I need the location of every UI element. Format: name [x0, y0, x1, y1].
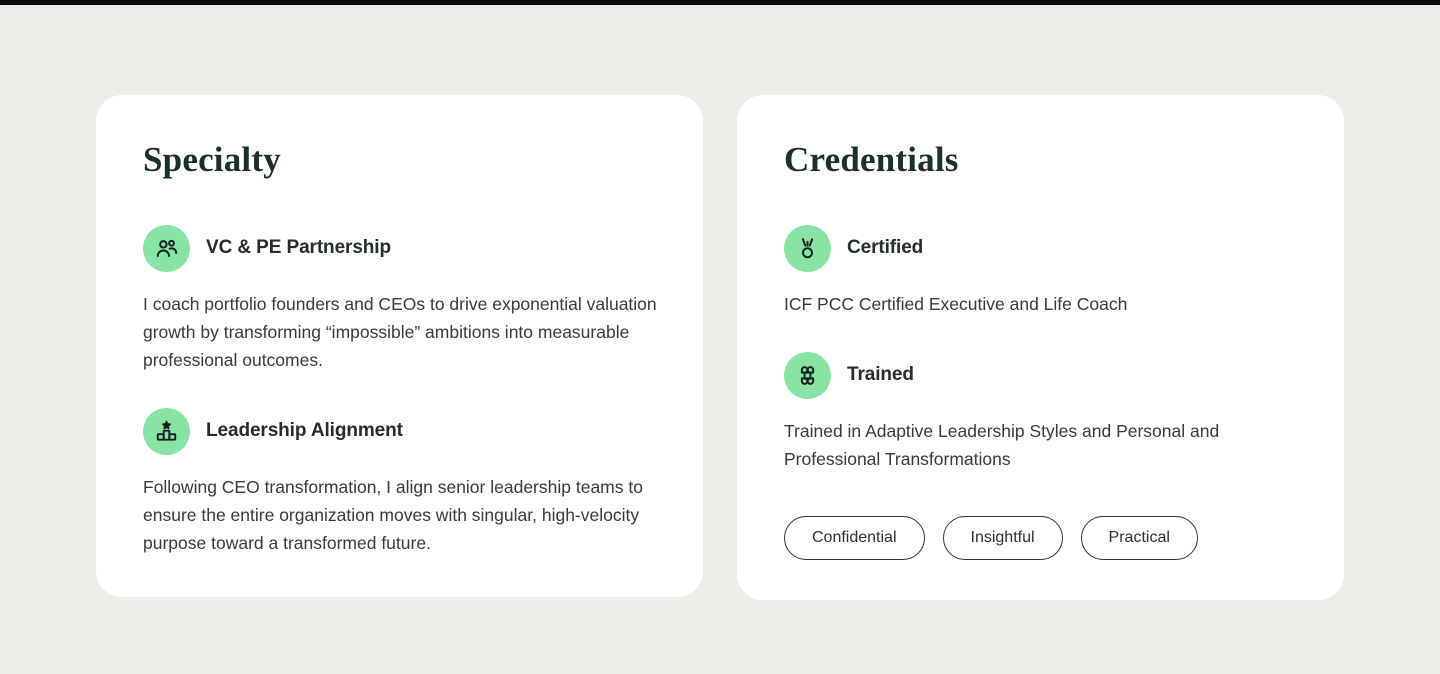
item-body: Trained in Adaptive Leadership Styles an…: [784, 417, 1284, 473]
list-item: Leadership Alignment Following CEO trans…: [143, 408, 657, 557]
list-item: VC & PE Partnership I coach portfolio fo…: [143, 225, 657, 374]
item-body: I coach portfolio founders and CEOs to d…: [143, 290, 657, 374]
card-title-credentials: Credentials: [784, 142, 1298, 179]
item-header: Trained: [784, 352, 1298, 399]
tag-practical[interactable]: Practical: [1081, 516, 1198, 560]
item-title: Trained: [847, 364, 914, 387]
item-title: Certified: [847, 237, 923, 260]
card-credentials: Credentials Certified ICF PCC Certified …: [737, 95, 1344, 600]
item-body: Following CEO transformation, I align se…: [143, 473, 657, 557]
medal-icon: [784, 225, 831, 272]
list-item: Trained Trained in Adaptive Leadership S…: [784, 352, 1298, 473]
item-header: Leadership Alignment: [143, 408, 657, 455]
item-header: VC & PE Partnership: [143, 225, 657, 272]
card-specialty: Specialty VC & PE Partnership I coach po…: [96, 95, 703, 597]
podium-star-icon: [143, 408, 190, 455]
item-title: Leadership Alignment: [206, 420, 403, 443]
cards-container: Specialty VC & PE Partnership I coach po…: [96, 95, 1344, 600]
item-title: VC & PE Partnership: [206, 237, 391, 260]
item-header: Certified: [784, 225, 1298, 272]
users-icon: [143, 225, 190, 272]
tag-insightful[interactable]: Insightful: [943, 516, 1063, 560]
command-loop-icon: [784, 352, 831, 399]
item-body: ICF PCC Certified Executive and Life Coa…: [784, 290, 1284, 318]
tag-list: Confidential Insightful Practical: [784, 516, 1298, 560]
page-root: Specialty VC & PE Partnership I coach po…: [0, 5, 1440, 674]
card-title-specialty: Specialty: [143, 142, 657, 179]
tag-confidential[interactable]: Confidential: [784, 516, 925, 560]
list-item: Certified ICF PCC Certified Executive an…: [784, 225, 1298, 318]
